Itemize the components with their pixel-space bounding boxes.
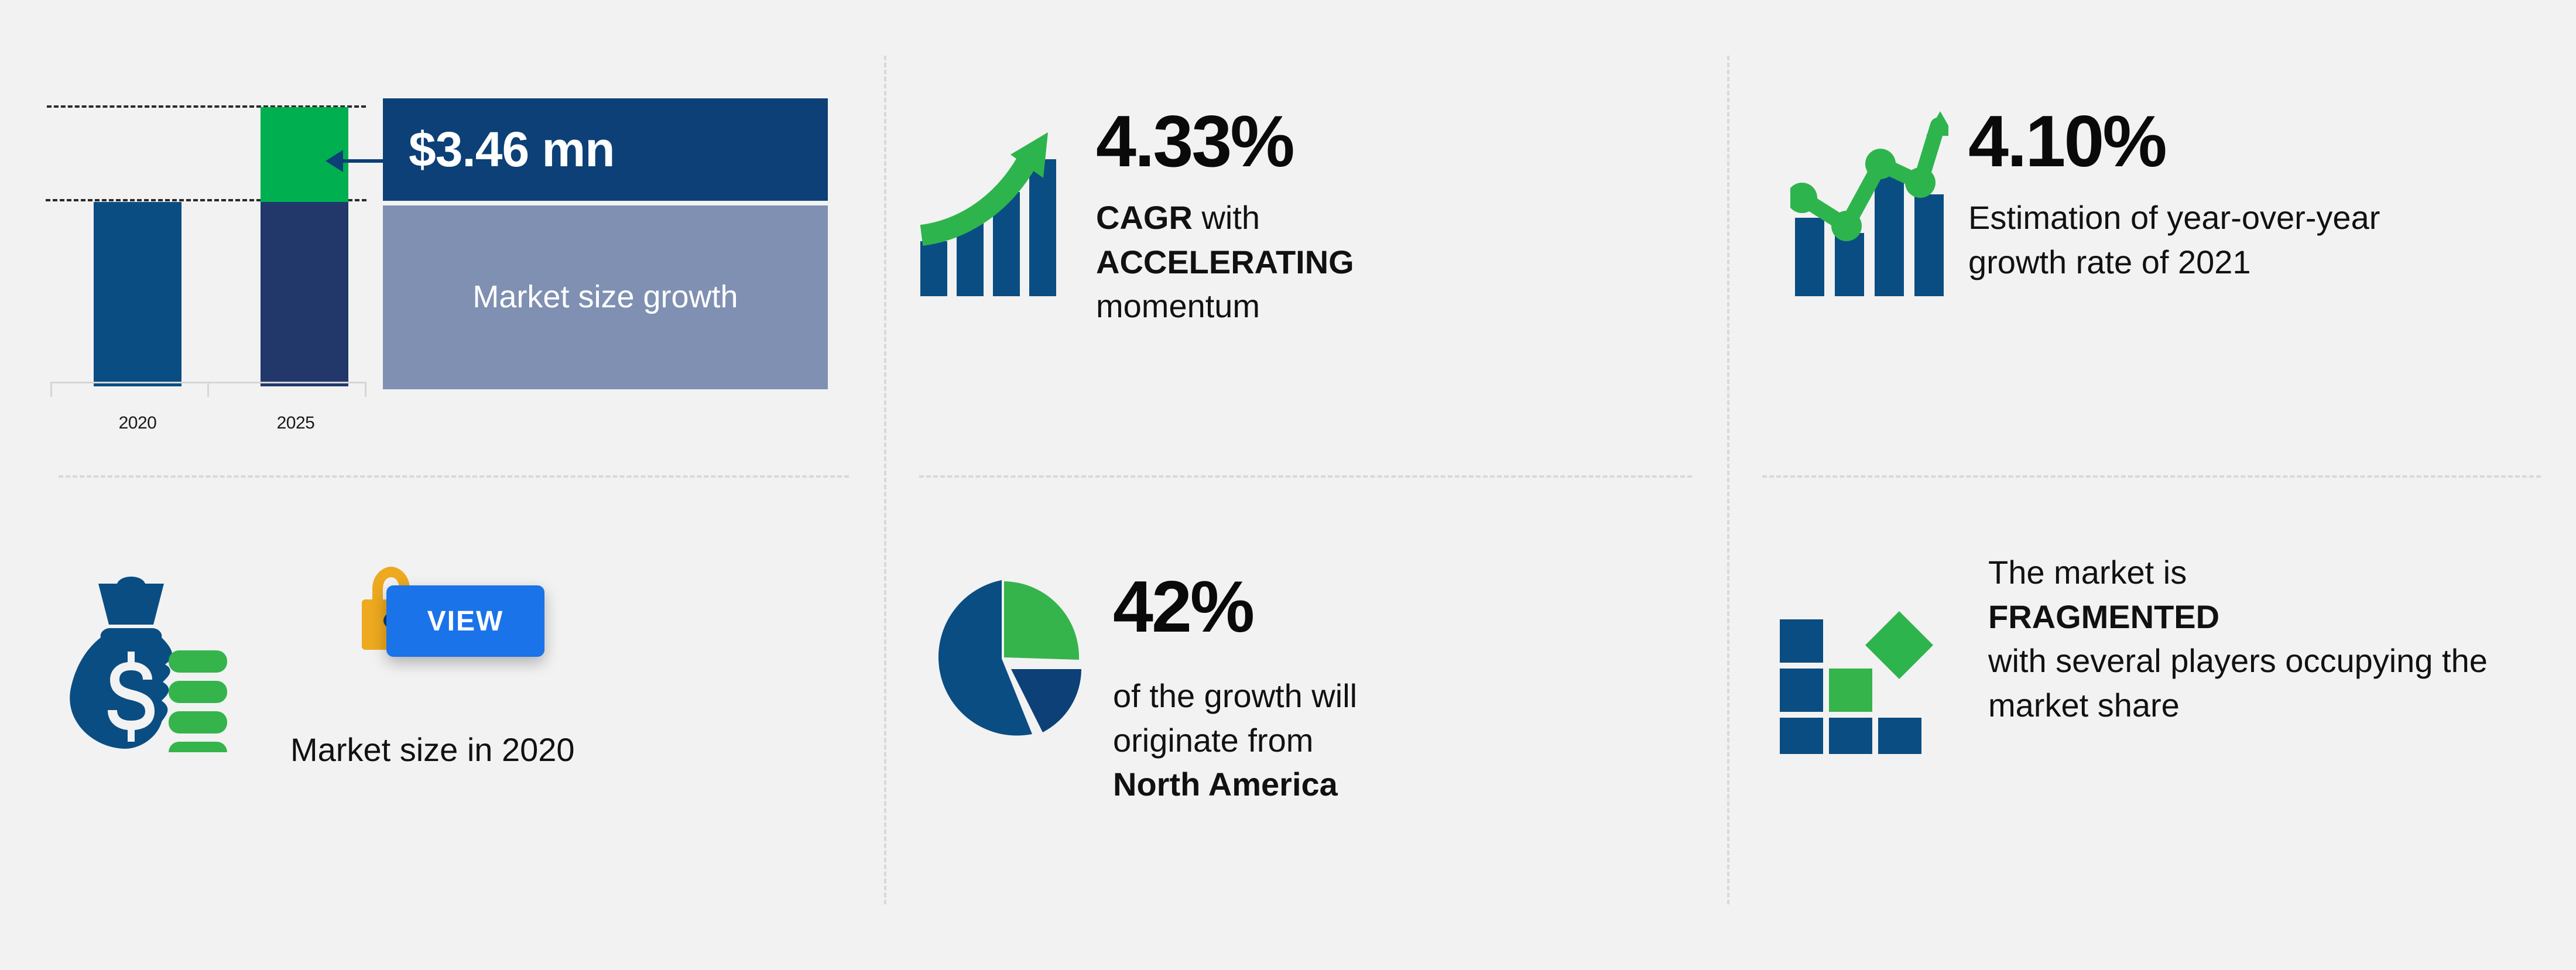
cagr-value: 4.33% [1096, 105, 1354, 178]
yoy-description: Estimation of year-over-year growth rate… [1968, 196, 2460, 284]
fragmentation-block: The market is FRAGMENTED with several pl… [1780, 550, 2503, 754]
cagr-block: 4.33% CAGR with ACCELERATING momentum [918, 105, 1354, 328]
fragmentation-line-2: FRAGMENTED [1988, 598, 2219, 635]
region-share-block: 42% of the growth will originate from No… [922, 571, 1357, 807]
region-line-1: of the growth will [1113, 677, 1357, 714]
cagr-word-with: with [1193, 199, 1260, 236]
region-line-3: North America [1113, 766, 1338, 803]
horizontal-divider-col2 [919, 475, 1692, 478]
cagr-word-momentum: momentum [1096, 287, 1260, 324]
pie-chart-icon [922, 571, 1086, 746]
infographic-canvas: 2020 2025 $3.46 mn Market size growth 4.… [0, 0, 2576, 970]
fragmentation-description: The market is FRAGMENTED with several pl… [1988, 550, 2503, 727]
view-button[interactable]: VIEW [386, 585, 544, 657]
region-share-description: of the growth will originate from North … [1113, 674, 1357, 807]
yoy-block: 4.10% Estimation of year-over-year growt… [1790, 105, 2460, 299]
cagr-description: CAGR with ACCELERATING momentum [1096, 196, 1354, 328]
fragmentation-text: The market is FRAGMENTED with several pl… [1988, 550, 2503, 727]
cagr-word-cagr: CAGR [1096, 199, 1193, 236]
vertical-divider-right [1727, 56, 1729, 904]
region-share-value: 42% [1113, 571, 1357, 643]
region-share-text: 42% of the growth will originate from No… [1113, 571, 1357, 807]
cagr-word-accelerating: ACCELERATING [1096, 244, 1354, 280]
market-size-2020-caption: Market size in 2020 [290, 731, 575, 769]
horizontal-divider-col3 [1762, 475, 2541, 478]
fragmentation-line-3: with several players occupying the marke… [1988, 642, 2488, 724]
yoy-value: 4.10% [1968, 105, 2460, 178]
growth-bar-arrow-icon [918, 105, 1076, 299]
market-size-2020-block: VIEW Market size in 2020 [0, 0, 878, 970]
vertical-divider-left [884, 56, 886, 904]
line-chart-bars-icon [1790, 105, 1948, 299]
fragmented-squares-icon [1780, 584, 1955, 754]
yoy-text: 4.10% Estimation of year-over-year growt… [1968, 105, 2460, 284]
cagr-text: 4.33% CAGR with ACCELERATING momentum [1096, 105, 1354, 328]
fragmentation-line-1: The market is [1988, 554, 2187, 591]
region-line-2: originate from [1113, 722, 1313, 759]
money-bag-icon [64, 577, 234, 752]
